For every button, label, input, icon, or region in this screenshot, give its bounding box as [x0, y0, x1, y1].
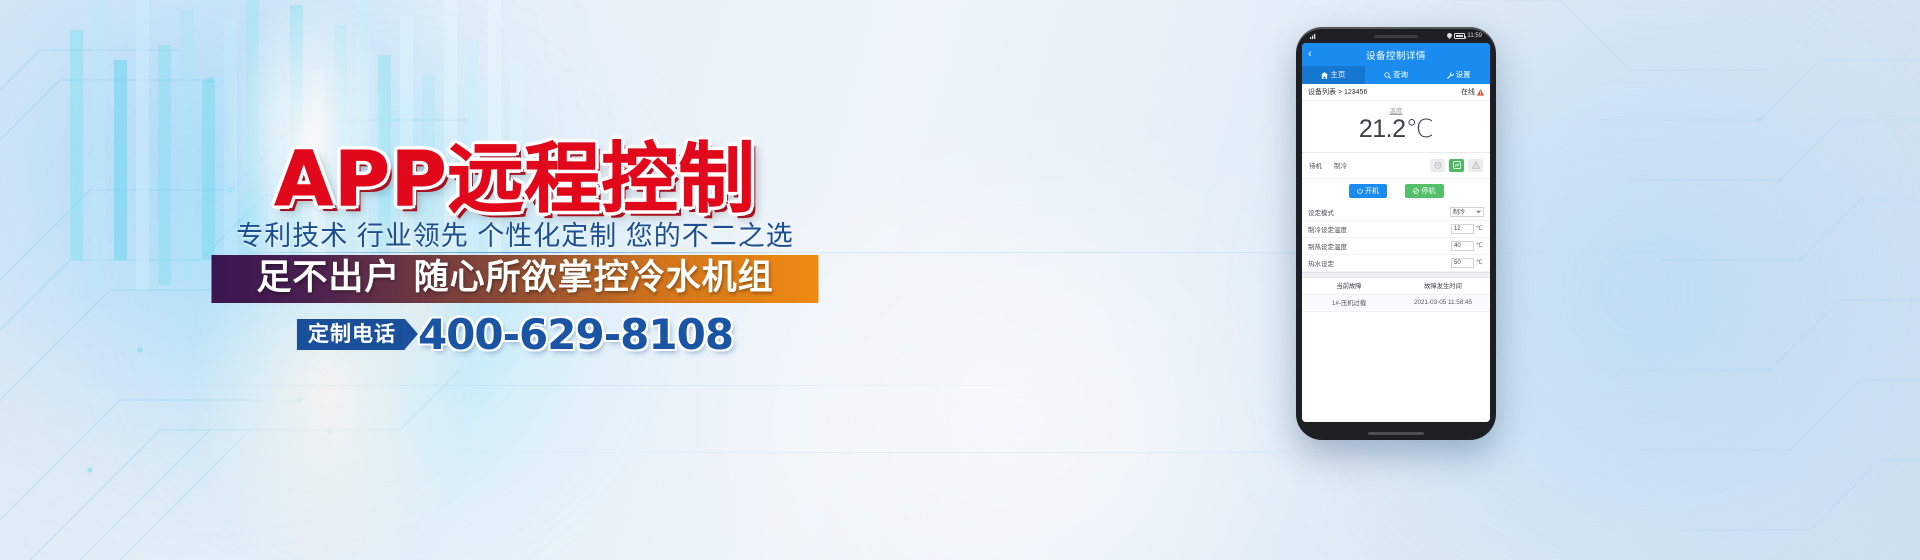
banner-copy: APP远程控制 专利技术 行业领先 个性化定制 您的不二之选 足不出户 随心所欲…	[0, 0, 1030, 560]
telephone-tag: 定制电话	[297, 319, 405, 350]
setting-row-cool-temp: 制冷设定温度 12 ℃	[1302, 221, 1490, 238]
setting-control: 50 ℃	[1451, 258, 1484, 268]
heat-temp-input[interactable]: 40	[1451, 241, 1474, 251]
fault-time: 2021-03-05 11:58:45	[1396, 299, 1490, 306]
warning-icon	[1472, 161, 1480, 169]
device-state: 待机	[1309, 160, 1322, 170]
tab-home-label: 主页	[1330, 71, 1345, 79]
tab-query-label: 查询	[1393, 71, 1408, 79]
fault-table-header: 当前故障 故障发生时间	[1302, 278, 1490, 295]
warning-icon-button[interactable]	[1468, 159, 1483, 172]
fault-table: 当前故障 故障发生时间 1#-压机过载 2021-03-05 11:58:45	[1302, 278, 1490, 422]
setting-label: 热水设定	[1308, 258, 1334, 268]
signal-icon	[1310, 33, 1317, 39]
phone-mockup: 11:59 ‹ 设备控制详情 主页	[1296, 27, 1496, 440]
power-on-label: 开机	[1365, 188, 1379, 195]
location-icon	[1447, 33, 1452, 39]
page-title: 设备控制详情	[1302, 48, 1490, 62]
setting-control: 12 ℃	[1451, 224, 1484, 234]
tab-query[interactable]: 查询	[1365, 66, 1428, 84]
hotwater-input[interactable]: 50	[1451, 258, 1474, 268]
tab-home[interactable]: 主页	[1302, 66, 1365, 84]
promo-banner: APP远程控制 专利技术 行业领先 个性化定制 您的不二之选 足不出户 随心所欲…	[0, 0, 1920, 560]
phone-status-bar: 11:59	[1302, 30, 1490, 42]
home-icon	[1321, 72, 1328, 79]
fault-header-time: 故障发生时间	[1396, 281, 1490, 290]
telephone-row: 定制电话 400-629-8108	[297, 310, 733, 359]
setting-control: 制冷	[1450, 207, 1484, 217]
settings-list: 设定模式 制冷 制冷设定温度 12 ℃	[1302, 204, 1490, 272]
status-bar-time: 11:59	[1467, 33, 1482, 39]
warning-triangle-icon	[1477, 89, 1484, 96]
mode-select[interactable]: 制冷	[1450, 207, 1484, 217]
setting-row-heat-temp: 制热设定温度 40 ℃	[1302, 238, 1490, 255]
power-off-button[interactable]: 停机	[1405, 184, 1444, 198]
alarm-clock-icon	[1434, 161, 1442, 169]
wrench-icon	[1447, 72, 1454, 79]
cool-temp-input[interactable]: 12	[1451, 224, 1474, 234]
chevron-left-icon[interactable]: ‹	[1308, 49, 1312, 60]
unit-label: ℃	[1476, 259, 1484, 266]
power-off-icon	[1413, 188, 1419, 194]
unit-label: ℃	[1476, 225, 1484, 232]
power-on-button[interactable]: 开机	[1349, 184, 1388, 198]
subline: 专利技术 行业领先 个性化定制 您的不二之选	[236, 214, 794, 253]
status-badge: 在线	[1461, 87, 1475, 97]
power-button-row: 开机 停机	[1302, 179, 1490, 204]
headline: APP远程控制	[274, 141, 755, 217]
setting-row-hotwater: 热水设定 50 ℃	[1302, 255, 1490, 272]
status-bar-left	[1310, 33, 1317, 39]
home-indicator	[1368, 432, 1424, 435]
fault-name: 1#-压机过载	[1302, 298, 1396, 307]
phone-screen: ‹ 设备控制详情 主页 查询	[1302, 43, 1490, 422]
tab-settings[interactable]: 设置	[1427, 66, 1490, 84]
device-mode: 制冷	[1334, 160, 1347, 170]
slogan-text: 足不出户 随心所欲掌控冷水机组	[212, 255, 819, 303]
chart-icon-button[interactable]	[1449, 159, 1464, 172]
online-status: 在线	[1461, 87, 1484, 97]
power-on-icon	[1357, 188, 1363, 194]
tab-settings-label: 设置	[1456, 71, 1471, 79]
chevron-down-icon	[1476, 210, 1481, 214]
temperature-block: 温度 21.2℃	[1302, 101, 1490, 153]
tab-bar: 主页 查询 设置	[1302, 66, 1490, 84]
alarm-clock-icon-button[interactable]	[1430, 159, 1445, 172]
setting-label: 制热设定温度	[1308, 241, 1347, 251]
temperature-label: 温度	[1302, 105, 1490, 115]
device-status-row: 待机 制冷	[1302, 153, 1490, 179]
power-off-label: 停机	[1422, 188, 1436, 195]
setting-row-mode: 设定模式 制冷	[1302, 204, 1490, 221]
temperature-value: 21.2℃	[1302, 115, 1490, 144]
battery-icon	[1454, 33, 1465, 39]
mode-select-value: 制冷	[1453, 207, 1465, 216]
table-row[interactable]: 1#-压机过载 2021-03-05 11:58:45	[1302, 295, 1490, 312]
status-icon-group	[1430, 159, 1483, 172]
setting-label: 制冷设定温度	[1308, 224, 1347, 234]
status-bar-right: 11:59	[1447, 33, 1482, 39]
setting-label: 设定模式	[1308, 207, 1334, 217]
breadcrumb-bar: 设备列表 > 123456 在线	[1302, 84, 1490, 101]
search-icon	[1384, 72, 1391, 79]
app-navbar: ‹ 设备控制详情	[1302, 43, 1490, 66]
unit-label: ℃	[1476, 242, 1484, 249]
telephone-number: 400-629-8108	[418, 310, 733, 359]
setting-control: 40 ℃	[1451, 241, 1484, 251]
fault-header-current: 当前故障	[1302, 281, 1396, 290]
breadcrumb[interactable]: 设备列表 > 123456	[1308, 87, 1367, 97]
chart-icon	[1453, 161, 1461, 169]
